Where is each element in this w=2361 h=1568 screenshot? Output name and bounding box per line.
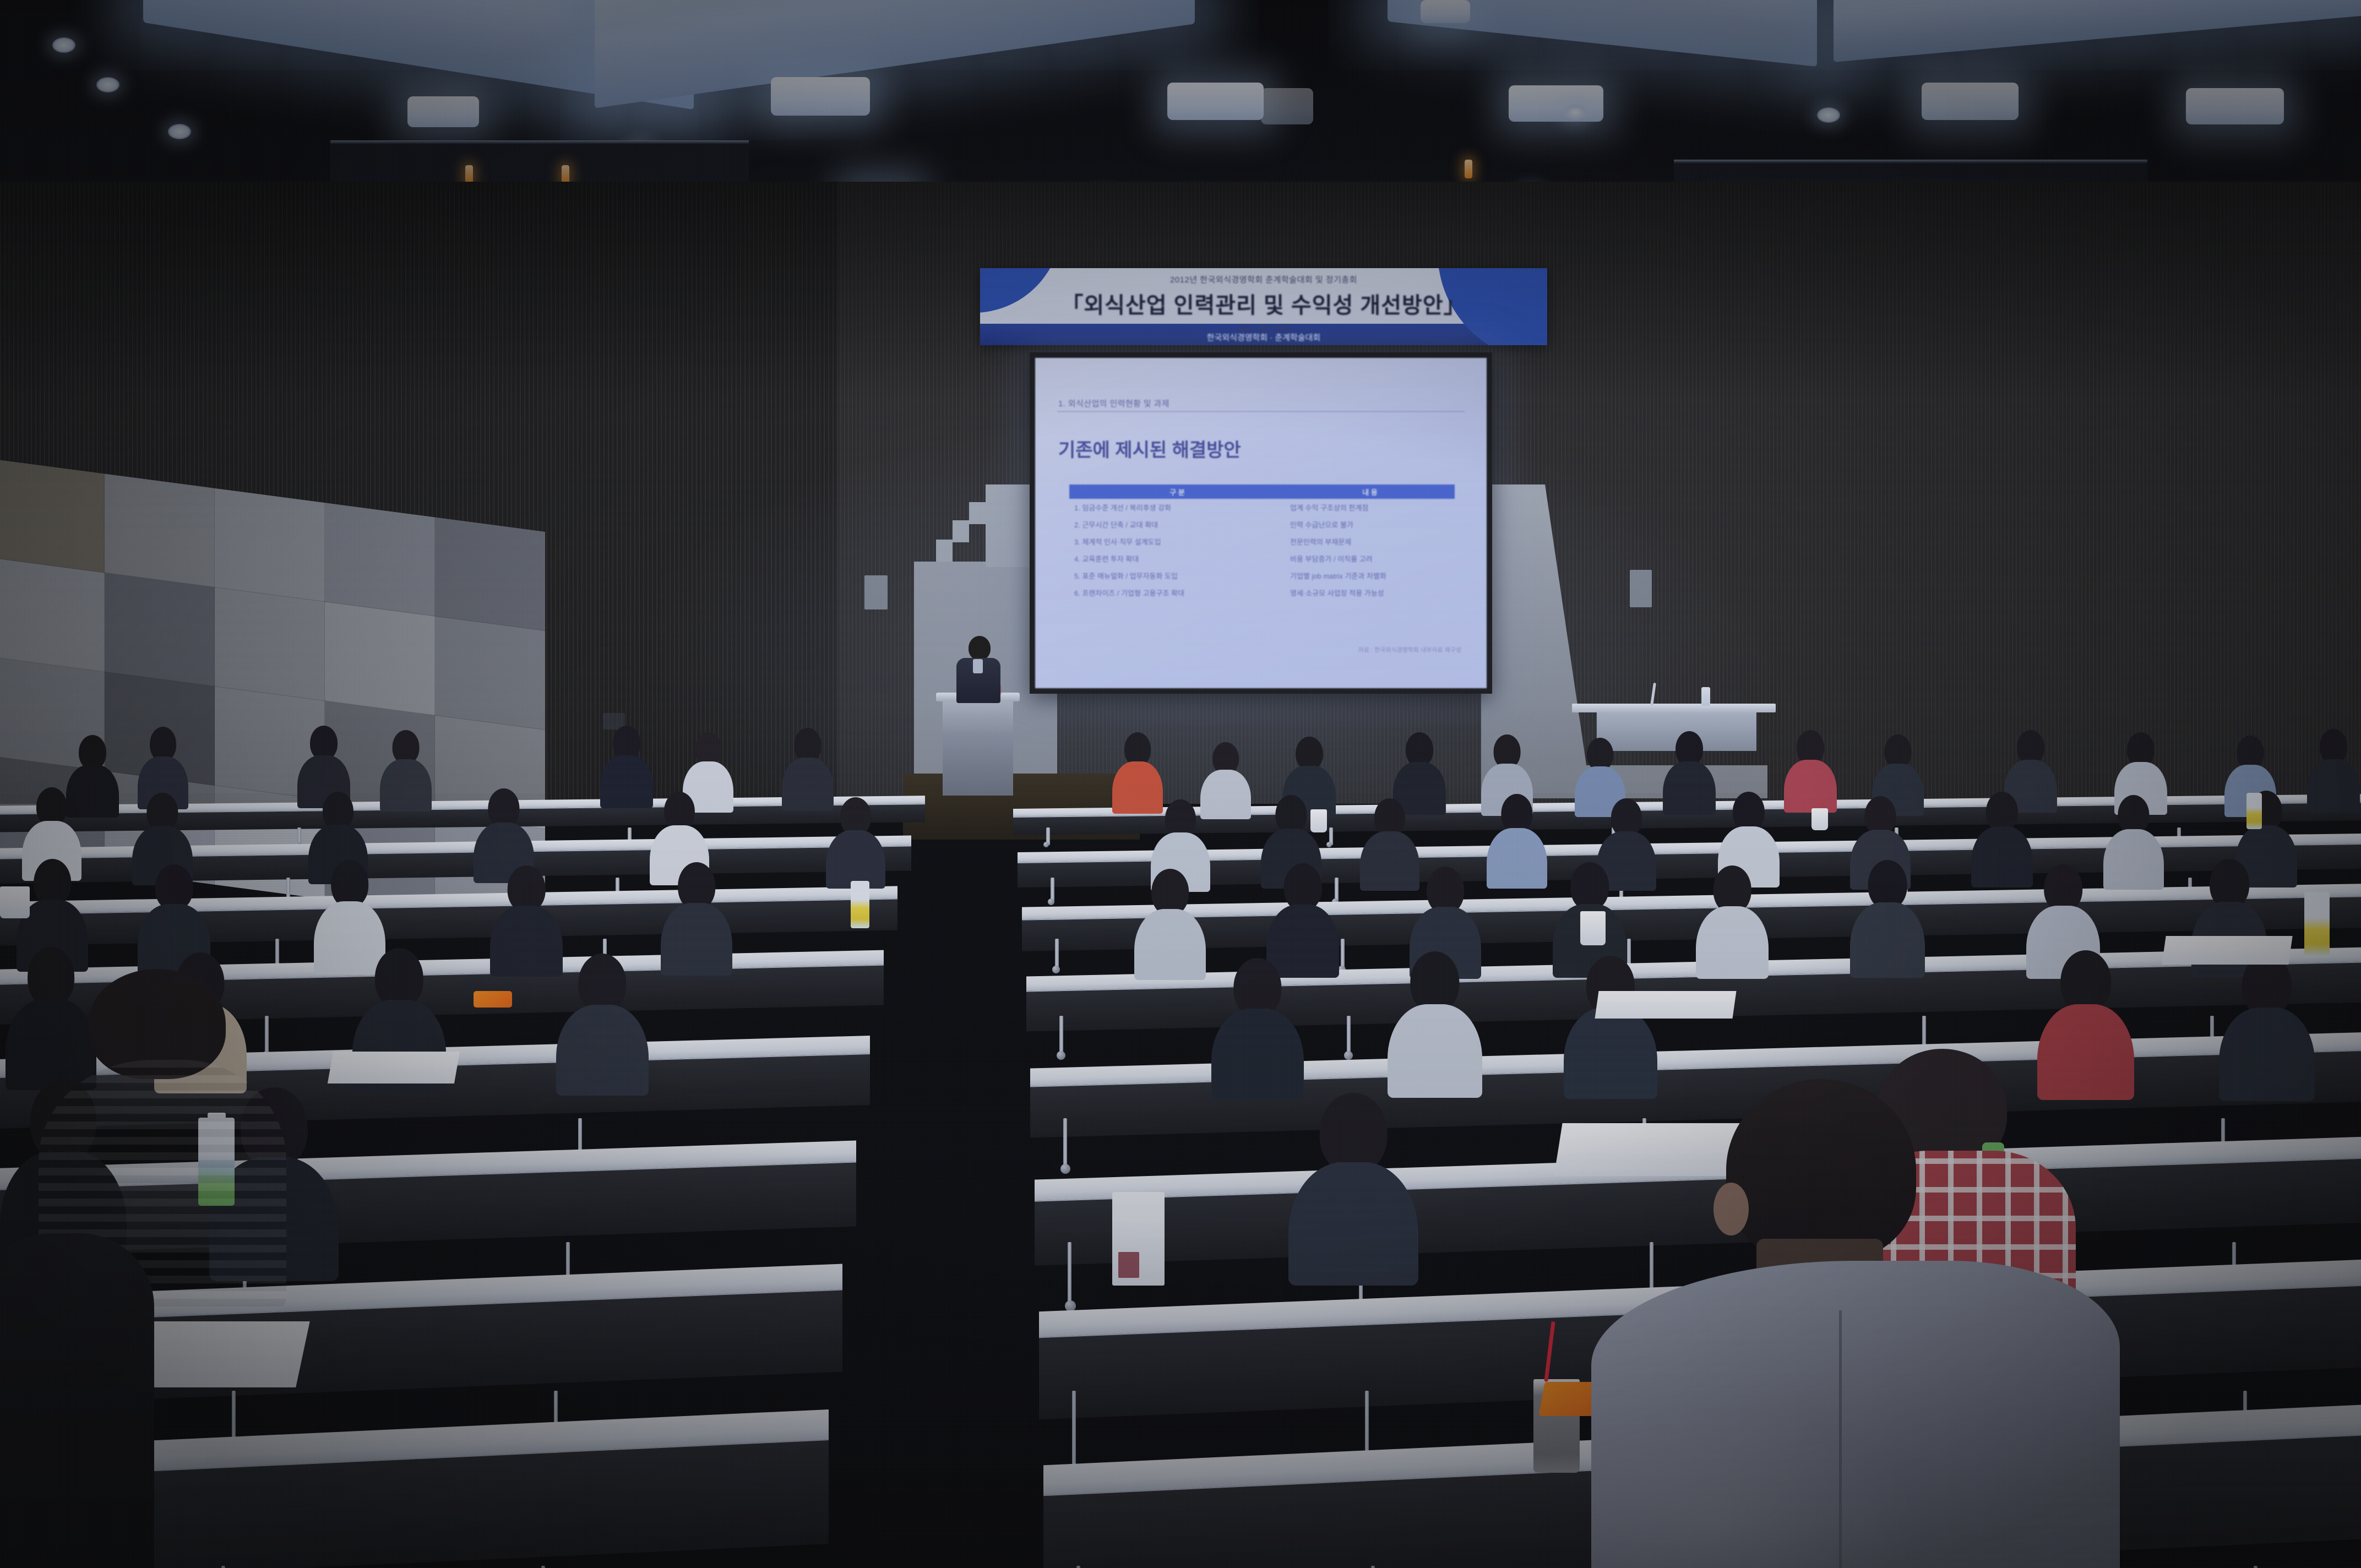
audience-member: [1971, 792, 2033, 888]
slide-table-cell: 5. 표준 매뉴얼화 / 업무자동화 도입: [1069, 567, 1285, 584]
cove-light-segment: [1834, 0, 2361, 62]
presenter-at-podium: [955, 636, 1000, 702]
person-torso: [826, 830, 885, 889]
audience-member: [1288, 1093, 1418, 1286]
slide-table-row: 2. 근무시간 단축 / 교대 확대인력 수급난으로 불가: [1069, 516, 1455, 533]
slide-table-row: 1. 임금수준 개선 / 복리후생 강화업계 수익 구조상의 한계점: [1069, 499, 1455, 516]
ceiling-duct: [330, 140, 749, 182]
desk-caster: [1052, 966, 1060, 973]
handout-paper: [1595, 991, 1736, 1019]
audience-member: [380, 730, 432, 812]
audience-member: [661, 862, 732, 976]
slide-divider: [1057, 411, 1465, 412]
slide-table-cell: 비용 부담증가 / 이직률 고려: [1285, 550, 1455, 567]
ceiling-panel-light: [1167, 83, 1264, 120]
person-torso: [1850, 902, 1925, 978]
slide-table-header-cell: 내 용: [1285, 484, 1455, 499]
audience-member: [556, 954, 649, 1096]
ceiling-coffer-edge: [330, 140, 749, 144]
recessed-downlight: [96, 77, 119, 92]
person-torso: [490, 906, 563, 977]
recessed-downlight: [1817, 107, 1840, 123]
audience-member: [1211, 958, 1304, 1099]
slide-table-cell: 4. 교육훈련 투자 확대: [1069, 550, 1285, 567]
desk-caster: [1326, 842, 1332, 847]
audience-member: [2307, 729, 2360, 813]
person-torso: [1784, 760, 1837, 813]
recessed-downlight: [1564, 105, 1587, 120]
presenter-head: [969, 636, 991, 660]
audience-member: [1850, 860, 1925, 978]
seminar-room-photo: 2012년 한국외식경영학회 춘계학술대회 및 정기총회 「외식산업 인력관리 …: [0, 0, 2361, 1568]
desk-leg: [1076, 1566, 1080, 1568]
projection-screen-frame: 1. 외식산업의 인력현황 및 과제 기존에 제시된 해결방안 구 분내 용 1…: [1030, 352, 1492, 694]
person-torso: [661, 903, 732, 976]
person-torso: [1971, 826, 2033, 888]
paper-cup: [1580, 911, 1606, 945]
person-head: [1320, 1093, 1388, 1174]
paper-cup: [0, 886, 30, 918]
projection-screen: 1. 외식산업의 인력현황 및 과제 기존에 제시된 해결방안 구 분내 용 1…: [1035, 358, 1487, 688]
audience-member: [1388, 951, 1482, 1098]
slide-table-row: 6. 프랜차이즈 / 기업형 고용구조 확대영세·소규모 사업장 적용 가능성: [1069, 584, 1455, 601]
person-torso: [380, 759, 432, 812]
slide-table-cell: 전문인력의 부재문제: [1285, 533, 1455, 550]
white-tote-bag: [1112, 1192, 1165, 1286]
audience-member: [490, 865, 563, 977]
audience-member: [1784, 730, 1837, 813]
audience-dark-shoulder-left: [0, 1233, 154, 1568]
audience-member: [1134, 869, 1206, 980]
person-torso: [2219, 1008, 2315, 1101]
ceiling-panel-light: [2186, 88, 2284, 124]
ceiling-speaker-box: [1261, 88, 1313, 124]
handout-paper: [328, 1052, 460, 1084]
person-torso: [1487, 828, 1547, 889]
desk-leg: [541, 1566, 545, 1568]
amber-spot-light: [562, 165, 569, 184]
desk-leg: [1341, 939, 1345, 969]
slide-table-cell: 2. 근무시간 단축 / 교대 확대: [1069, 516, 1285, 533]
water-bottle: [1701, 687, 1710, 706]
desk-caster: [1057, 1051, 1065, 1060]
recessed-downlight: [168, 124, 191, 139]
event-banner: 2012년 한국외식경영학회 춘계학술대회 및 정기총회 「외식산업 인력관리 …: [980, 268, 1547, 345]
slide-table-row: 5. 표준 매뉴얼화 / 업무자동화 도입기업별 job matrix 기준과 …: [1069, 567, 1455, 584]
slide-table-header-row: 구 분내 용: [1069, 484, 1455, 499]
recessed-downlight: [52, 37, 75, 53]
person-torso: [600, 755, 653, 808]
slide-table: 구 분내 용 1. 임금수준 개선 / 복리후생 강화업계 수익 구조상의 한계…: [1069, 484, 1455, 601]
slide-title: 기존에 제시된 해결방안: [1058, 435, 1241, 462]
water-bottle: [2246, 793, 2262, 829]
desk-leg: [2254, 1566, 2257, 1568]
slide-table-header-cell: 구 분: [1069, 484, 1285, 499]
handout-paper: [2162, 936, 2292, 965]
ceiling-coffer-edge: [1674, 160, 2147, 164]
desk-leg: [1063, 1118, 1067, 1167]
desk-leg: [1068, 1242, 1071, 1304]
man-shoulder-shadow: [1591, 1261, 2120, 1568]
amber-spot-light: [465, 165, 473, 184]
person-torso: [2103, 829, 2164, 890]
banner-footer: 한국외식경영학회 · 춘계학술대회: [980, 331, 1547, 343]
slide-table-cell: 영세·소규모 사업장 적용 가능성: [1285, 584, 1455, 601]
person-torso: [2307, 759, 2360, 813]
banner-title: 「외식산업 인력관리 및 수익성 개선방안」: [980, 287, 1547, 319]
audience-member: [600, 726, 653, 808]
orange-snack-wrapper: [474, 991, 512, 1008]
audience-member: [1696, 865, 1769, 979]
ceiling-panel-light: [1922, 83, 2019, 120]
ceiling-panel-light: [407, 96, 479, 127]
slide-table-cell: 3. 체계적 인사·직무 설계도입: [1069, 533, 1285, 550]
presenter-shirt: [973, 659, 983, 673]
slide-footnote: 자료 : 한국외식경영학회 내부자료 재구성: [1358, 645, 1461, 654]
banner-superline: 2012년 한국외식경영학회 춘계학술대회 및 정기총회: [980, 274, 1547, 285]
person-torso: [556, 1005, 649, 1096]
water-bottle: [2304, 892, 2330, 957]
slide-table-row: 4. 교육훈련 투자 확대비용 부담증가 / 이직률 고려: [1069, 550, 1455, 567]
person-torso: [1696, 906, 1769, 979]
ceiling-panel-light: [1421, 0, 1470, 23]
audience-member: [2219, 955, 2315, 1101]
desk-leg: [1371, 1566, 1375, 1568]
desk-leg: [1055, 939, 1059, 969]
audience-member: [1487, 794, 1547, 889]
amber-spot-light: [1465, 160, 1472, 178]
desk-caster: [1048, 899, 1054, 905]
slide-table-row: 3. 체계적 인사·직무 설계도입전문인력의 부재문제: [1069, 533, 1455, 550]
desk-leg: [221, 1566, 225, 1568]
person-torso: [1388, 1004, 1482, 1098]
slide-kicker: 1. 외식산업의 인력현황 및 과제: [1058, 398, 1169, 409]
water-bottle: [851, 881, 869, 928]
ceiling-panel-light: [771, 77, 870, 116]
person-torso: [1663, 761, 1716, 815]
audience-member: [826, 797, 885, 889]
man-head: [1726, 1079, 1916, 1261]
lectern: [943, 696, 1013, 796]
paper-cup: [1811, 808, 1828, 830]
slide-table-cell: 6. 프랜차이즈 / 기업형 고용구조 확대: [1069, 584, 1285, 601]
desk-leg: [1059, 1016, 1063, 1054]
slide-table-cell: 기업별 job matrix 기준과 차별화: [1285, 567, 1455, 584]
ceiling-panel-light: [1509, 85, 1603, 122]
desk-leg: [1072, 1391, 1076, 1469]
man-ear: [1713, 1183, 1749, 1235]
audience-man-gray-suit: [1575, 1079, 2125, 1568]
desk-leg: [1347, 1016, 1351, 1054]
cove-light-segment: [595, 0, 1195, 108]
audience-member: [2103, 795, 2164, 890]
audience-member: [1564, 956, 1657, 1099]
paper-cup: [1310, 809, 1327, 832]
person-torso: [1288, 1162, 1418, 1286]
person-torso: [1134, 909, 1206, 980]
person-torso: [1211, 1009, 1304, 1099]
slide-table-cell: 업계 수익 구조상의 한계점: [1285, 499, 1455, 516]
audience-member: [1663, 731, 1716, 815]
slide-table-cell: 1. 임금수준 개선 / 복리후생 강화: [1069, 499, 1285, 516]
panel-head-table-top: [1572, 704, 1776, 712]
slide-table-cell: 인력 수급난으로 불가: [1285, 516, 1455, 533]
